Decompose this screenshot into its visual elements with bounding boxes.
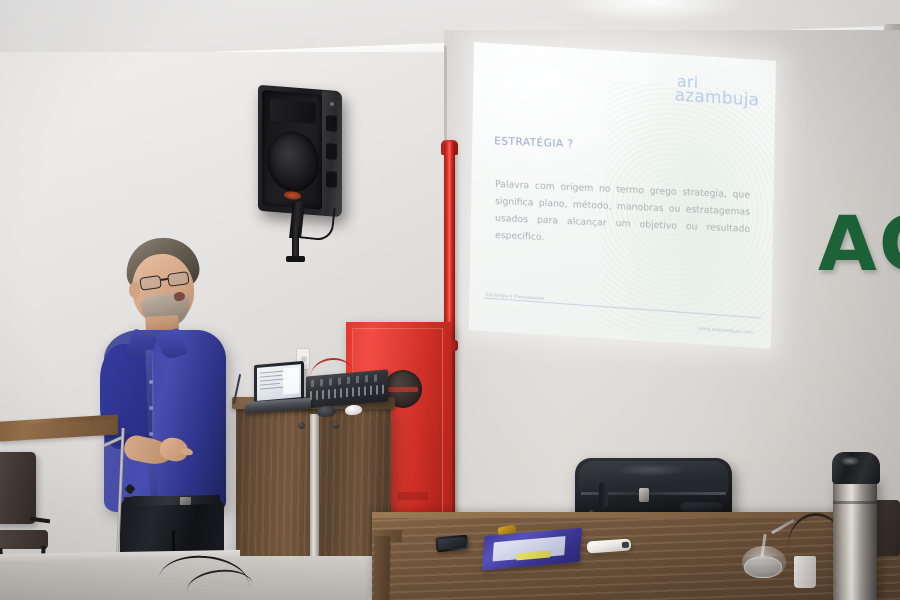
slide-footer-rule [483, 297, 761, 318]
presenter-belt-buckle [180, 497, 191, 505]
speaker-side-panel [322, 91, 342, 217]
laptop-slide-panel [283, 367, 299, 394]
thermos-cap[interactable] [832, 452, 880, 484]
folder-yellow-insert [516, 550, 550, 560]
smartphone[interactable] [435, 535, 468, 553]
ceiling-light-glow [560, 0, 750, 22]
glass-cup[interactable] [794, 556, 816, 588]
speaker-woofer [267, 129, 319, 193]
credenza-knob-right[interactable] [332, 422, 339, 429]
suitcase-zipper-pull[interactable] [639, 488, 649, 502]
fire-cabinet-label [398, 492, 428, 500]
thermos-ring [833, 501, 877, 504]
laptop-display [257, 364, 301, 401]
slide-body-text: Palavra com origem no termo grego strate… [495, 177, 750, 256]
chair-left-back[interactable] [0, 452, 36, 524]
fire-cabinet-window-bar [388, 387, 418, 392]
pa-speaker [258, 88, 354, 248]
suitcase-wheel [599, 482, 608, 508]
presenter-ear [129, 282, 140, 298]
speaker-grille [262, 90, 322, 210]
table-leg [373, 536, 390, 600]
credenza-knob-left[interactable] [298, 422, 305, 429]
thermos-cap-highlight [840, 456, 860, 466]
mixer-knob-row[interactable] [310, 385, 384, 400]
clicker-tip [622, 542, 629, 548]
smartphone-screen[interactable] [438, 537, 467, 550]
slide-logo: ari azambuja [675, 74, 760, 108]
slide-logo-line2: azambuja [675, 88, 760, 108]
suitcase-highlight [615, 464, 685, 476]
thermos-flask[interactable] [833, 477, 877, 600]
speaker-mount-pole [292, 226, 299, 260]
projected-slide: ari azambuja ESTRATÉGIA ? Palavra com or… [469, 42, 776, 349]
speaker-tweeter-horn [270, 99, 316, 125]
wall-signage-letters: AC [818, 206, 900, 282]
speaker-power-led [330, 102, 334, 106]
speaker-brand-badge [284, 191, 301, 200]
folder-window [493, 536, 566, 561]
presentation-room-scene: ari azambuja ESTRATÉGIA ? Palavra com or… [0, 0, 900, 600]
slide-title: ESTRATÉGIA ? [494, 135, 573, 150]
slide-footer-right: www.ariazambuja.com [699, 326, 753, 336]
speaker-mount-cap [286, 256, 305, 262]
glass-bowl[interactable] [744, 556, 782, 578]
